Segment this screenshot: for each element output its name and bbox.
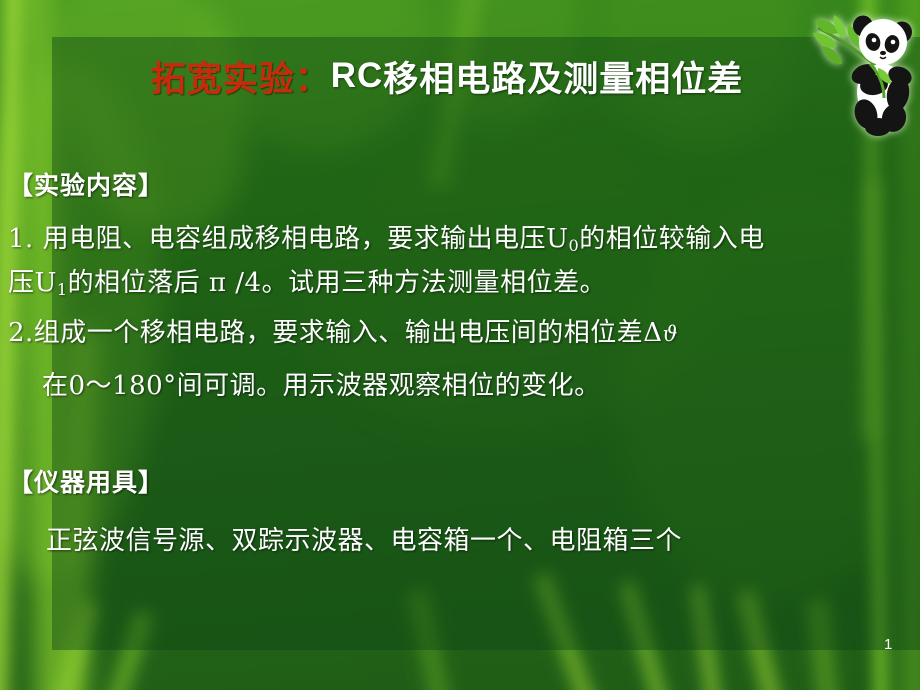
item2-line1-pre: 2.组成一个移相电路，要求输入、输出电压间的相位差Δ [8, 318, 663, 348]
item1-line2-post: 的相位落后 π /4。试用三种方法测量相位差。 [68, 268, 606, 298]
experiment-item-1-line-2: 压U1的相位落后 π /4。试用三种方法测量相位差。 [8, 262, 606, 299]
panda-foot [865, 118, 891, 136]
item1-line2-pre: 压U [8, 268, 57, 298]
experiment-item-1-line-1: 1. 用电阻、电容组成移相电路，要求输出电压U0的相位较输入电 [8, 218, 765, 255]
section-heading-apparatus: 【仪器用具】 [8, 463, 164, 499]
phase-difference-symbol: ϑ [663, 322, 679, 346]
slide-canvas: 拓宽实验： RC 移相电路及测量相位差 [0, 0, 920, 690]
experiment-item-2-line-2: 在0～180°间可调。用示波器观察相位的变化。 [42, 365, 601, 402]
experiment-item-2-line-1: 2.组成一个移相电路，要求输入、输出电压间的相位差Δϑ [8, 312, 678, 349]
page-number: 1 [884, 636, 892, 653]
apparatus-list: 正弦波信号源、双踪示波器、电容箱一个、电阻箱三个 [46, 520, 682, 557]
title-main: 移相电路及测量相位差 [383, 51, 743, 102]
slide-title: 拓宽实验： RC 移相电路及测量相位差 [52, 40, 842, 112]
item1-line1-post: 的相位较输入电 [579, 224, 765, 254]
item1-line1-pre: 1. 用电阻、电容组成移相电路，要求输出电压U [8, 224, 568, 254]
title-prefix: 拓宽实验： [151, 51, 331, 102]
section-heading-experiment-content: 【实验内容】 [8, 166, 164, 202]
panda-nose [880, 51, 886, 55]
item1-line2-sub: 1 [57, 280, 68, 299]
item1-line1-sub: 0 [568, 236, 579, 255]
panda-illustration [812, 6, 916, 146]
title-rc-label: RC [331, 56, 384, 96]
